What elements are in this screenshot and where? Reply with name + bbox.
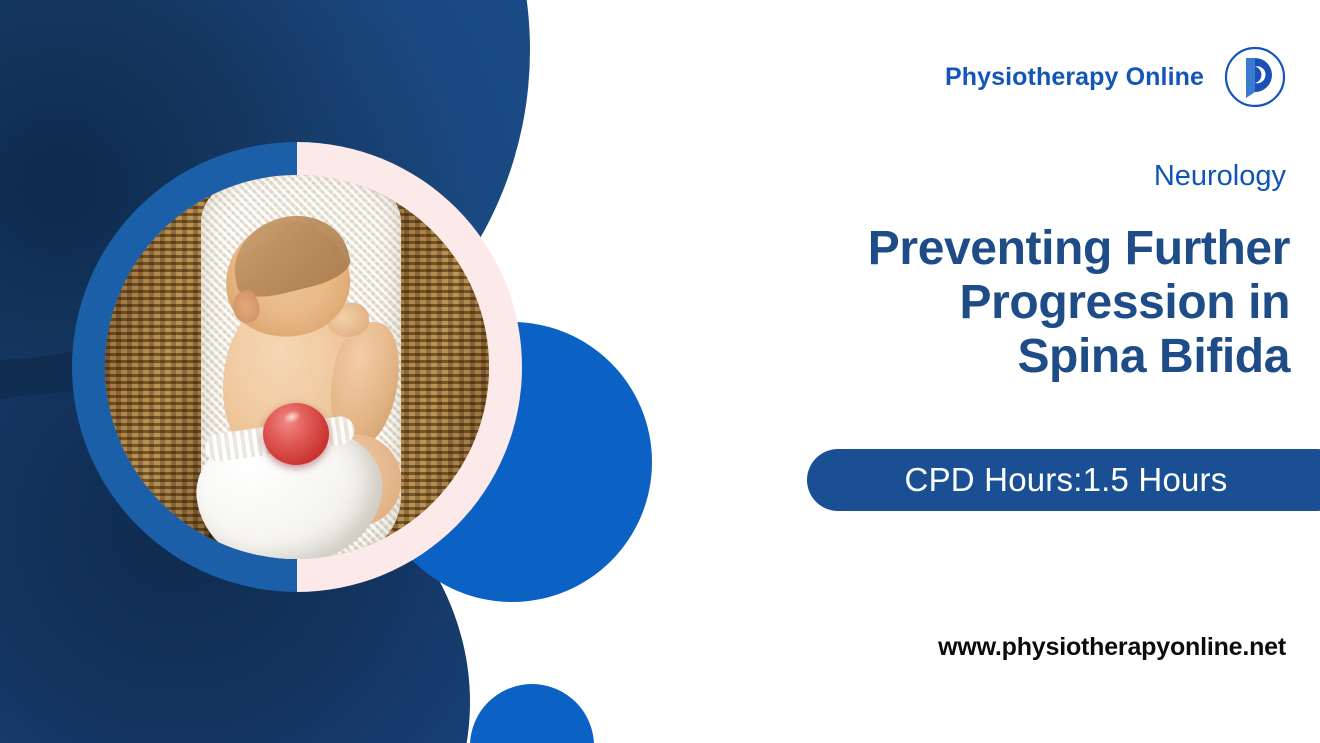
- decorative-shapes-layer: [0, 0, 660, 743]
- course-title-line-2: Progression in: [730, 276, 1290, 330]
- course-title-line-1: Preventing Further: [730, 222, 1290, 276]
- cpd-hours-badge: CPD Hours:1.5 Hours: [807, 449, 1320, 511]
- course-category: Neurology: [1154, 160, 1286, 193]
- infant-photo-content: [105, 175, 489, 559]
- brand-name: Physiotherapy Online: [945, 63, 1204, 92]
- website-url: www.physiotherapyonline.net: [938, 633, 1286, 662]
- infant-photo: [105, 175, 489, 559]
- brand-header: Physiotherapy Online: [945, 46, 1286, 108]
- cpd-hours-badge-label: CPD Hours:1.5 Hours: [905, 461, 1250, 499]
- course-title-line-3: Spina Bifida: [730, 330, 1290, 384]
- physiotherapy-online-p-logo-icon: [1224, 46, 1286, 108]
- blue-circle-bottom-shape: [470, 684, 594, 743]
- course-title: Preventing Further Progression in Spina …: [730, 222, 1290, 383]
